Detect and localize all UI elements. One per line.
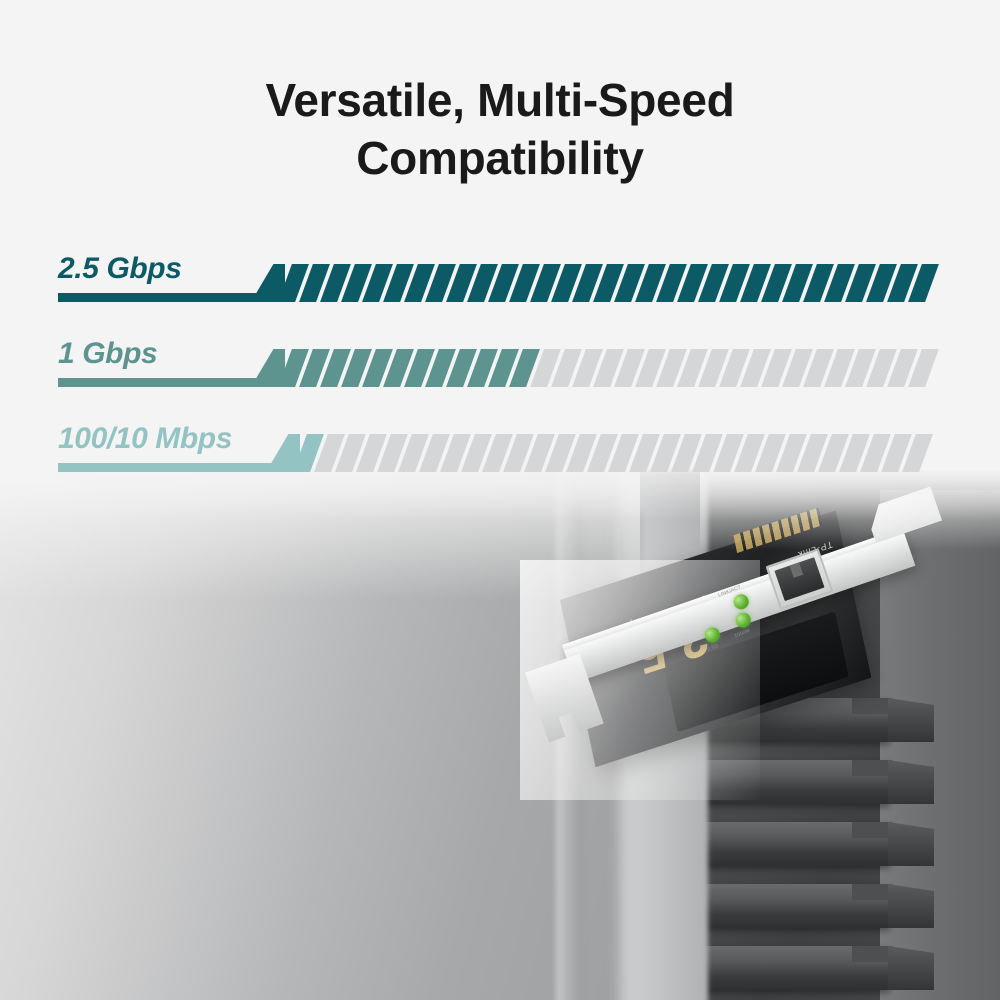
slot-notch: [852, 884, 892, 900]
speed-bar-underline: [58, 463, 280, 472]
slot-notch: [852, 698, 892, 714]
speed-bar-ramp: [266, 434, 300, 472]
slot-notch: [852, 822, 892, 838]
speed-bar-ramp: [251, 264, 285, 302]
speed-bar-ramp: [251, 349, 285, 387]
slot-notch: [852, 946, 892, 962]
speed-bar-row: 2.5 Gbps: [0, 222, 1000, 302]
speed-comparison-chart: 2.5 Gbps1 Gbps100/10 Mbps: [0, 0, 1000, 480]
speed-bar-label: 1 Gbps: [58, 337, 157, 371]
speed-bar-underline: [58, 378, 265, 387]
speed-bar-track: [285, 264, 940, 302]
pci-slot-rail: [700, 884, 890, 928]
promo-banner: 2.5 Gigabit PCIe Adapter TP-Link LINK/AC…: [0, 0, 1000, 1000]
speed-bar-label: 2.5 Gbps: [58, 252, 182, 286]
speed-bar-row: 100/10 Mbps: [0, 392, 1000, 472]
pci-slot-rail: [700, 946, 890, 990]
speed-bar-label: 100/10 Mbps: [58, 422, 232, 456]
pci-slot-rail: [700, 760, 890, 804]
link-act-led: [732, 592, 751, 611]
speed-bar-underline: [58, 293, 265, 302]
speed-bar-track: [300, 434, 940, 472]
speed-bar-track: [285, 349, 940, 387]
slot-notch: [852, 760, 892, 776]
pci-slot-rail: [700, 822, 890, 866]
speed-bar-row: 1 Gbps: [0, 307, 1000, 387]
rj45-keyway: [790, 562, 804, 578]
rj45-port-cavity: [774, 557, 824, 601]
